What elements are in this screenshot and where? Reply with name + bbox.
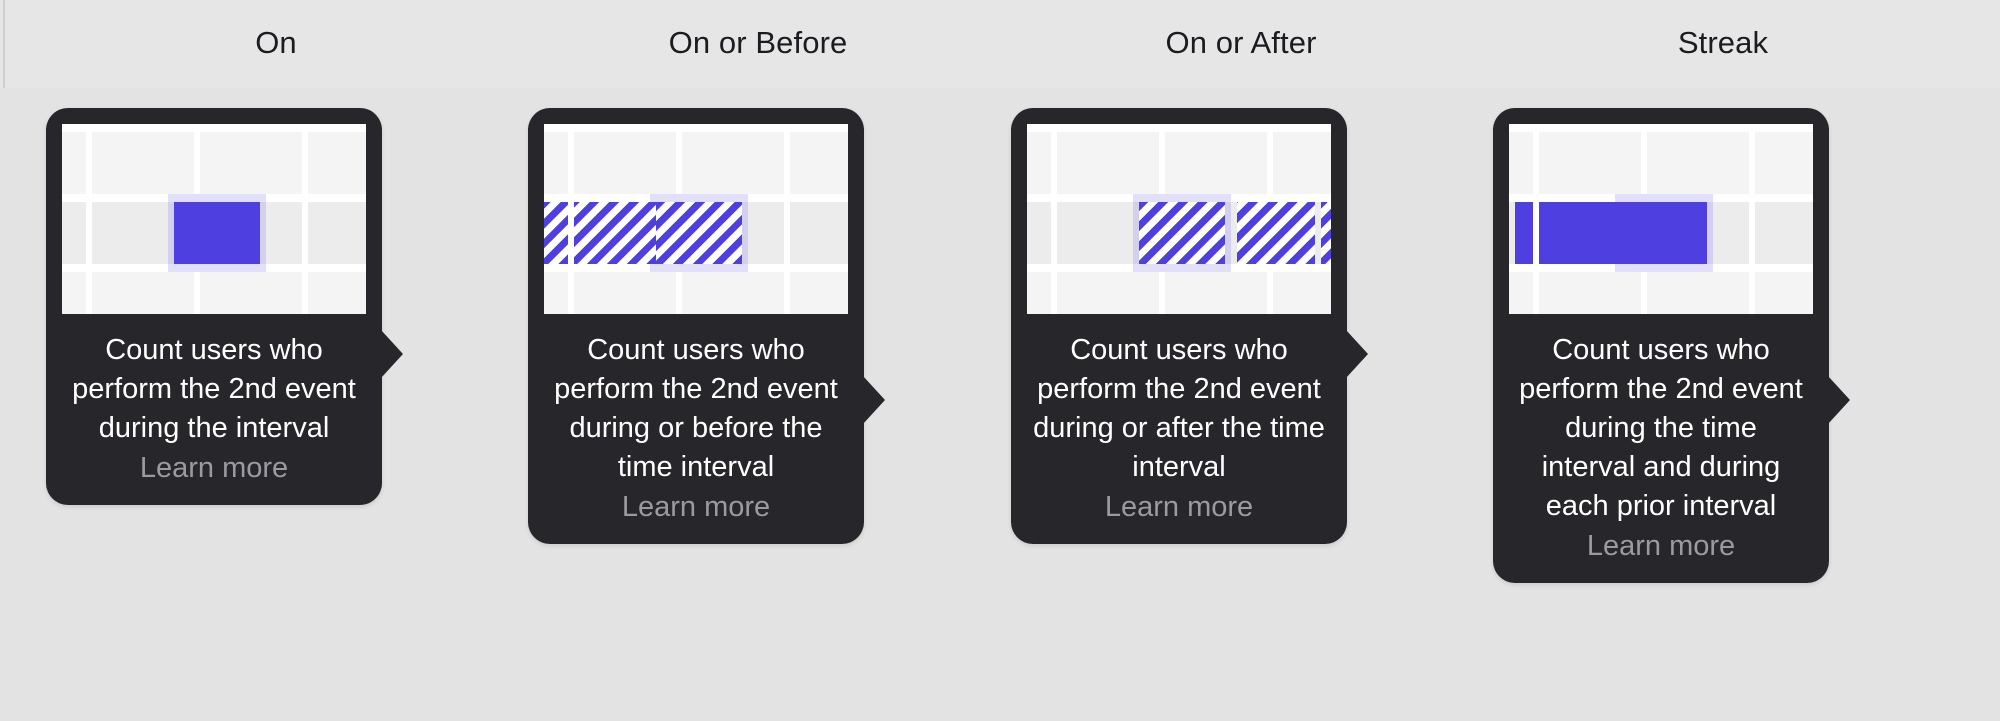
event-hatch-segment — [1139, 202, 1225, 264]
illustration-streak — [1509, 124, 1813, 314]
column-label-on-or-before: On or Before — [669, 22, 848, 64]
card-streak[interactable]: Count users who perform the 2nd event du… — [1493, 108, 1829, 583]
event-hatch-segment — [656, 202, 742, 264]
card-arrow-on-or-before-icon — [863, 376, 885, 424]
event-hatch-segment — [544, 202, 568, 264]
illustration-on-or-after — [1027, 124, 1331, 314]
illustration-on — [62, 124, 366, 314]
card-description-on-or-after: Count users who perform the 2nd event du… — [1027, 314, 1331, 487]
event-block — [1621, 202, 1707, 264]
event-hatch-segment — [1321, 202, 1331, 264]
card-arrow-on-icon — [381, 330, 403, 378]
learn-more-link-streak[interactable]: Learn more — [1509, 526, 1813, 583]
card-description-on-or-before: Count users who perform the 2nd event du… — [544, 314, 848, 487]
card-on[interactable]: Count users who perform the 2nd event du… — [46, 108, 382, 505]
card-description-on: Count users who perform the 2nd event du… — [62, 314, 366, 448]
learn-more-link-on[interactable]: Learn more — [62, 448, 366, 505]
card-on-or-after[interactable]: Count users who perform the 2nd event du… — [1011, 108, 1347, 544]
column-label-streak: Streak — [1678, 22, 1768, 64]
learn-more-link-on-or-after[interactable]: Learn more — [1027, 487, 1331, 544]
column-label-on: On — [255, 22, 297, 64]
card-arrow-on-or-after-icon — [1346, 330, 1368, 378]
event-hatch-segment — [1237, 202, 1315, 264]
card-on-or-before[interactable]: Count users who perform the 2nd event du… — [528, 108, 864, 544]
learn-more-link-on-or-before[interactable]: Learn more — [544, 487, 848, 544]
event-block — [1515, 202, 1533, 264]
column-label-on-or-after: On or After — [1166, 22, 1317, 64]
card-arrow-streak-icon — [1828, 376, 1850, 424]
header-left-divider — [3, 0, 5, 88]
card-description-streak: Count users who perform the 2nd event du… — [1509, 314, 1813, 526]
event-block — [174, 202, 260, 264]
illustration-on-or-before — [544, 124, 848, 314]
